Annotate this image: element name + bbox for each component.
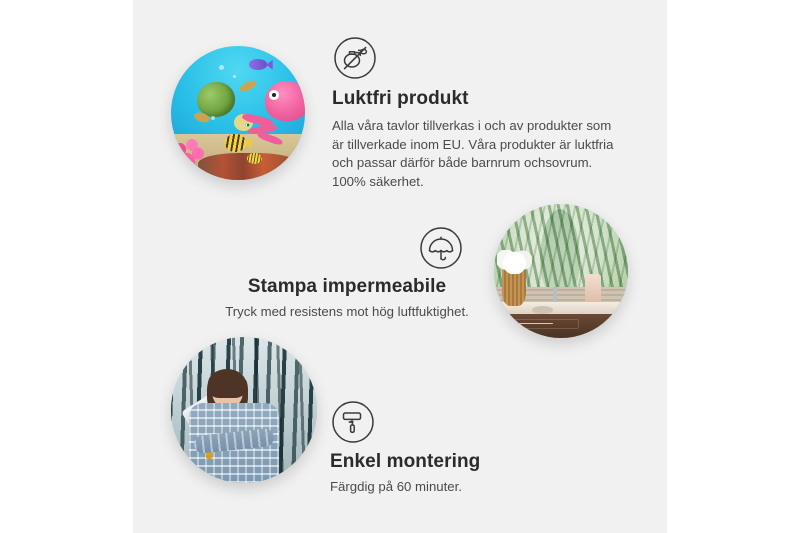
bubble: [211, 116, 215, 120]
paint-roller-icon: [331, 400, 375, 444]
feature-body: Tryck med resistens mot hög luftfuktighe…: [223, 303, 471, 322]
no-fragrance-spray-icon: [333, 36, 377, 80]
aquarium-illustration: [171, 46, 305, 180]
white-flowers: [497, 250, 532, 274]
feature-odourless: Luktfri produkt Alla våra tavlor tillver…: [332, 36, 622, 192]
feature-body: Färgdig på 60 minuter.: [330, 478, 570, 497]
feature-body: Alla våra tavlor tillverkas i och av pro…: [332, 117, 622, 192]
forest-scene: [171, 337, 317, 483]
octopus: [254, 81, 305, 145]
feature-waterproof: Stampa impermeabile Tryck med resistens …: [223, 226, 471, 322]
screenshot-stage: Luktfri produkt Alla våra tavlor tillver…: [0, 0, 800, 533]
umbrella-icon: [419, 226, 463, 270]
drawer-handle: [513, 323, 553, 324]
octopus-body: [265, 81, 305, 121]
octopus-eye: [269, 90, 279, 100]
product-photo-bathroom[interactable]: [494, 204, 628, 338]
soap-dish: [532, 306, 553, 314]
cabinet-handle: [609, 317, 614, 331]
turtle: [194, 78, 256, 134]
wooden-vanity: [494, 314, 628, 338]
decorator-woman: [189, 372, 280, 483]
pink-coral: [174, 132, 214, 175]
small-yellow-fish: [247, 153, 262, 164]
turtle-eye: [245, 123, 250, 127]
feature-title: Luktfri produkt: [332, 88, 622, 111]
product-photo-aquarium[interactable]: [171, 46, 305, 180]
octopus-arm: [257, 131, 284, 146]
bathroom-scene: [494, 204, 628, 338]
feature-title: Stampa impermeabile: [223, 276, 471, 299]
vanity-drawer: [502, 319, 579, 330]
bubble: [219, 65, 224, 70]
feature-easy: Enkel montering Färgdig på 60 minuter.: [330, 400, 570, 497]
feature-title: Enkel montering: [330, 451, 570, 474]
yellow-striped-fish: [225, 134, 246, 151]
hair-top: [208, 369, 246, 398]
product-photo-forest[interactable]: [171, 337, 317, 483]
